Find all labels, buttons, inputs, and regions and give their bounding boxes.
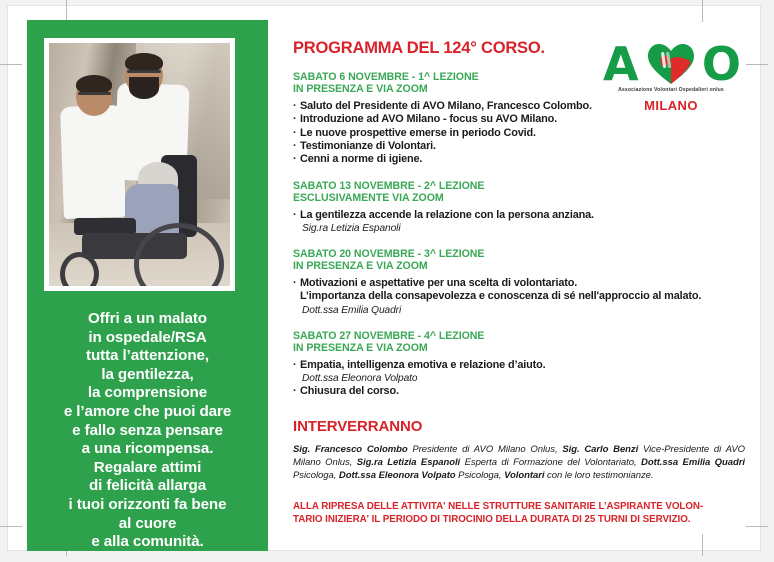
quote-line: e alla comunità.: [27, 533, 268, 552]
speaker-name: Sig. Francesco Colombo: [293, 444, 412, 455]
lesson-item: ·Empatia, intelligenza emotiva e relazio…: [293, 359, 745, 372]
speaker-role: Psicologa,: [293, 470, 339, 481]
crop-mark-top-right-v: [702, 0, 703, 22]
lesson-section: SABATO 27 NOVEMBRE - 4^ LEZIONEIN PRESEN…: [293, 330, 745, 399]
lesson-item-title: Le nuove prospettive emerse in periodo C…: [300, 127, 536, 139]
speaker-name: Sig. Carlo Benzi: [562, 444, 643, 455]
bullet-icon: ·: [293, 100, 300, 113]
quote-line: Regalare attimi: [27, 459, 268, 478]
quote-line: a una ricompensa.: [27, 440, 268, 459]
bullet-icon: ·: [293, 127, 300, 140]
speaker-name: Sig.ra Letizia Espanoli: [357, 457, 465, 468]
lesson-date: SABATO 20 NOVEMBRE - 3^ LEZIONE: [293, 248, 745, 260]
lesson-item-title: Motivazioni e aspettative per una scelta…: [300, 277, 577, 289]
lesson-mode: ESCLUSIVAMENTE VIA ZOOM: [293, 192, 745, 204]
lesson-mode: IN PRESENZA E VIA ZOOM: [293, 260, 745, 272]
content-column: A O Associazione Volontari Ospedalieri o…: [293, 20, 745, 551]
bullet-icon: ·: [293, 140, 300, 153]
lesson-heading: SABATO 13 NOVEMBRE - 2^ LEZIONEESCLUSIVA…: [293, 180, 745, 205]
lesson-item: ·Chiusura del corso.: [293, 385, 745, 398]
lesson-item-title: Chiusura del corso.: [300, 385, 399, 397]
lesson-item-text: Introduzione ad AVO Milano - focus su AV…: [300, 113, 745, 126]
quote-line: Offri a un malato: [27, 310, 268, 329]
lesson-item-title: Saluto del Presidente di AVO Milano, Fra…: [300, 100, 592, 112]
logo-letter-a: A: [603, 42, 639, 86]
bullet-icon: ·: [293, 209, 300, 222]
bullet-icon: ·: [293, 277, 300, 304]
lesson-item-text: Empatia, intelligenza emotiva e relazion…: [300, 359, 745, 372]
lesson-items: ·Empatia, intelligenza emotiva e relazio…: [293, 359, 745, 399]
lesson-date: SABATO 27 NOVEMBRE - 4^ LEZIONE: [293, 330, 745, 342]
notice-line: ALLA RIPRESA DELLE ATTIVITA' NELLE STRUT…: [293, 501, 745, 514]
crop-mark-top-left-h: [0, 64, 22, 65]
lesson-speaker: Dott.ssa Emilia Quadri: [293, 304, 745, 317]
avo-logo-mark: A O: [601, 42, 741, 86]
lesson-item-title: Empatia, intelligenza emotiva e relazion…: [300, 359, 545, 371]
lesson-items: ·Motivazioni e aspettative per una scelt…: [293, 277, 745, 317]
speaker-role: Esperta di Formazione del Volontariato,: [465, 457, 641, 468]
green-side-panel: Offri a un malatoin ospedale/RSAtutta l’…: [27, 20, 268, 551]
lesson-item-text: Cenni a norme di igiene.: [300, 153, 745, 166]
speaker-role: Presidente di AVO Milano Onlus,: [412, 444, 562, 455]
lesson-list: SABATO 6 NOVEMBRE - 1^ LEZIONEIN PRESENZ…: [293, 71, 745, 398]
logo-city-label: MILANO: [595, 98, 747, 113]
crop-mark-top-right-h: [746, 64, 768, 65]
quote-line: e l’amore che puoi dare: [27, 403, 268, 422]
lesson-item-text: Chiusura del corso.: [300, 385, 745, 398]
traineeship-notice: ALLA RIPRESA DELLE ATTIVITA' NELLE STRUT…: [293, 501, 745, 526]
quote-line: di felicità allarga: [27, 477, 268, 496]
speakers-heading: INTERVERRANNO: [293, 418, 745, 435]
poster-page: Offri a un malatoin ospedale/RSAtutta l’…: [8, 6, 760, 550]
crop-mark-bottom-left-h: [0, 526, 22, 527]
logo-letter-o: O: [702, 42, 741, 86]
lesson-item-title: Testimonianze di Volontari.: [300, 140, 436, 152]
notice-line: TARIO INIZIERA' IL PERIODO DI TIROCINIO …: [293, 514, 745, 527]
lesson-item-text: Testimonianze di Volontari.: [300, 140, 745, 153]
lesson-item-title: La gentilezza accende la relazione con l…: [300, 209, 594, 221]
lesson-speaker: Dott.ssa Eleonora Volpato: [293, 372, 745, 385]
lesson-item-text: Le nuove prospettive emerse in periodo C…: [300, 127, 745, 140]
quote-line: tutta l’attenzione,: [27, 347, 268, 366]
lesson-item-subtitle: L’importanza della consapevolezza e cono…: [300, 290, 745, 303]
speaker-role: con le loro testimonianze.: [547, 470, 653, 481]
lesson-item-title: Introduzione ad AVO Milano - focus su AV…: [300, 113, 557, 125]
quote-block: Offri a un malatoin ospedale/RSAtutta l’…: [27, 310, 268, 552]
lesson-item: ·Introduzione ad AVO Milano - focus su A…: [293, 113, 745, 126]
lesson-item: ·Le nuove prospettive emerse in periodo …: [293, 127, 745, 140]
quote-line: al cuore: [27, 515, 268, 534]
lesson-item-text: Motivazioni e aspettative per una scelta…: [300, 277, 745, 304]
lesson-section: SABATO 13 NOVEMBRE - 2^ LEZIONEESCLUSIVA…: [293, 180, 745, 235]
lesson-item: ·La gentilezza accende la relazione con …: [293, 209, 745, 222]
lesson-item: ·Cenni a norme di igiene.: [293, 153, 745, 166]
avo-logo: A O Associazione Volontari Ospedalieri o…: [595, 42, 747, 113]
lesson-section: SABATO 20 NOVEMBRE - 3^ LEZIONEIN PRESEN…: [293, 248, 745, 317]
speaker-name: Dott.ssa Eleonora Volpato: [339, 470, 458, 481]
lesson-item-text: La gentilezza accende la relazione con l…: [300, 209, 745, 222]
lesson-mode: IN PRESENZA E VIA ZOOM: [293, 342, 745, 354]
lesson-item: ·Testimonianze di Volontari.: [293, 140, 745, 153]
bullet-icon: ·: [293, 385, 300, 398]
volunteer-right-beard: [129, 77, 160, 99]
heart-handshake-icon: [647, 43, 695, 85]
speaker-name: Dott.ssa Emilia Quadri: [641, 457, 745, 468]
photo-frame: [44, 38, 235, 291]
lesson-items: ·La gentilezza accende la relazione con …: [293, 209, 745, 235]
lesson-heading: SABATO 27 NOVEMBRE - 4^ LEZIONEIN PRESEN…: [293, 330, 745, 355]
lesson-item-title: Cenni a norme di igiene.: [300, 153, 422, 165]
lesson-date: SABATO 13 NOVEMBRE - 2^ LEZIONE: [293, 180, 745, 192]
quote-line: i tuoi orizzonti fa bene: [27, 496, 268, 515]
lesson-speaker: Sig.ra Letizia Espanoli: [293, 222, 745, 235]
bullet-icon: ·: [293, 359, 300, 372]
crop-mark-top-left-v: [66, 0, 67, 22]
quote-line: la gentilezza,: [27, 366, 268, 385]
lesson-heading: SABATO 20 NOVEMBRE - 3^ LEZIONEIN PRESEN…: [293, 248, 745, 273]
bullet-icon: ·: [293, 113, 300, 126]
speakers-paragraph: Sig. Francesco Colombo Presidente di AVO…: [293, 444, 745, 482]
volunteers-photo: [49, 43, 230, 286]
bullet-icon: ·: [293, 153, 300, 166]
volunteer-left-glasses: [78, 92, 111, 95]
quote-line: e fallo senza pensare: [27, 422, 268, 441]
speaker-name: Volontari: [504, 470, 547, 481]
speaker-role: Psicologa,: [458, 470, 504, 481]
lesson-item: ·Motivazioni e aspettative per una scelt…: [293, 277, 745, 304]
quote-line: la comprensione: [27, 384, 268, 403]
crop-mark-bottom-right-h: [746, 526, 768, 527]
quote-line: in ospedale/RSA: [27, 329, 268, 348]
volunteer-right-glasses: [127, 70, 161, 73]
